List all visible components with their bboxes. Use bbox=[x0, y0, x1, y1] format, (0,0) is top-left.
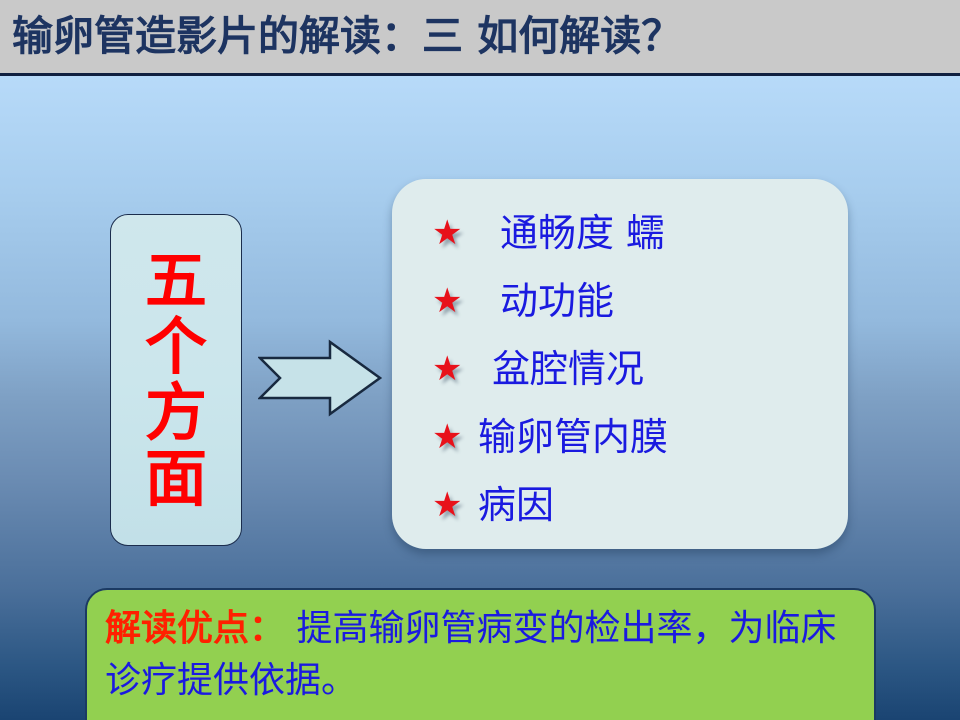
slide-title-bar: 输卵管造影片的解读：三 如何解读？ bbox=[0, 0, 960, 73]
aspect-label-3: 盆腔情况 bbox=[478, 335, 830, 403]
red-star-bullet-icon: ★ bbox=[432, 267, 478, 335]
aspect-label-5: 病因 bbox=[478, 471, 830, 539]
five-aspects-box: 五个方面 bbox=[110, 214, 242, 546]
advantage-paragraph: 解读优点： 提高输卵管病变的检出率，为临床诊疗提供依据。 bbox=[105, 602, 858, 707]
advantage-box: 解读优点： 提高输卵管病变的检出率，为临床诊疗提供依据。 bbox=[85, 588, 876, 720]
list-item: ★ 输卵管内膜 bbox=[432, 403, 830, 471]
list-item: ★ 盆腔情况 bbox=[432, 335, 830, 403]
aspect-label-2: 动功能 bbox=[478, 267, 830, 335]
slide-canvas: 输卵管造影片的解读：三 如何解读？ 五个方面 ★ 通畅度 蠕 ★ 动功能 bbox=[0, 0, 960, 720]
list-item: ★ 通畅度 蠕 bbox=[432, 199, 830, 267]
red-star-bullet-icon: ★ bbox=[432, 335, 478, 403]
right-arrow-icon bbox=[258, 338, 382, 418]
aspect-label-4: 输卵管内膜 bbox=[478, 403, 830, 471]
red-star-bullet-icon: ★ bbox=[432, 403, 478, 471]
list-item: ★ 病因 bbox=[432, 471, 830, 539]
advantage-label: 解读优点： bbox=[105, 607, 285, 649]
slide-body-background: 五个方面 ★ 通畅度 蠕 ★ 动功能 ★ 盆腔情况 ★ bbox=[0, 76, 960, 720]
red-star-bullet-icon: ★ bbox=[432, 199, 478, 267]
five-aspects-label: 五个方面 bbox=[141, 248, 211, 512]
red-star-bullet-icon: ★ bbox=[432, 471, 478, 539]
aspects-list-box: ★ 通畅度 蠕 ★ 动功能 ★ 盆腔情况 ★ 输卵管内膜 ★ 病因 bbox=[392, 179, 848, 549]
list-item: ★ 动功能 bbox=[432, 267, 830, 335]
page-title: 输卵管造影片的解读：三 如何解读？ bbox=[12, 6, 942, 66]
aspect-label-1: 通畅度 蠕 bbox=[478, 199, 830, 267]
